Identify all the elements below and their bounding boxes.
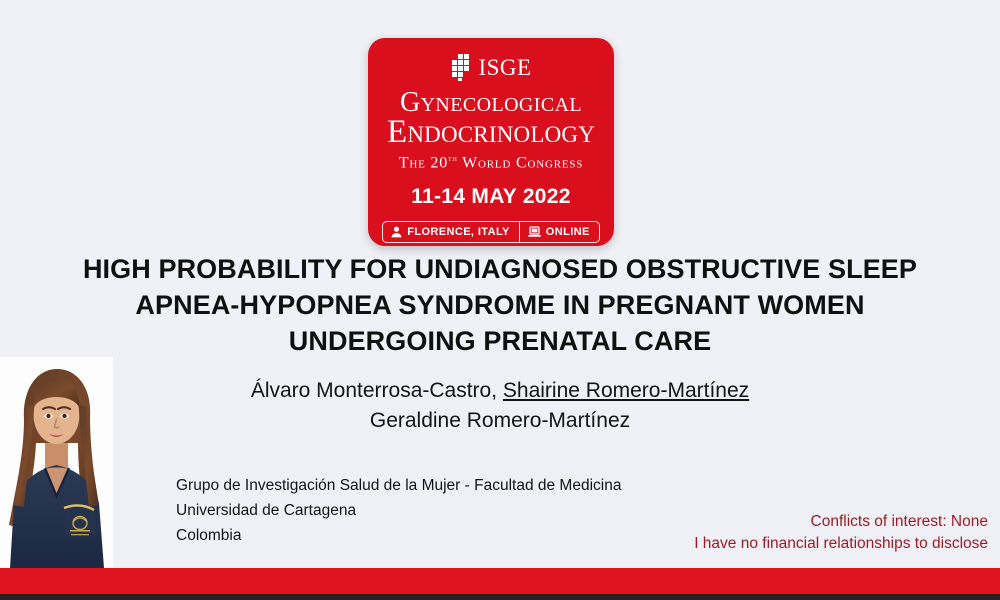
conflicts-line-1: Conflicts of interest: None <box>694 511 988 533</box>
affiliation-line-1: Grupo de Investigación Salud de la Mujer… <box>176 474 621 499</box>
congress-edition-prefix: The 20 <box>399 154 448 171</box>
isge-logo-lockup: ISGE <box>450 52 531 82</box>
badge-florence-italy: FLORENCE, ITALY <box>383 222 519 242</box>
badge-florence-italy-label: FLORENCE, ITALY <box>407 226 510 238</box>
congress-title-line-1: Gynecological <box>400 89 582 117</box>
congress-edition-ordinal: th <box>448 153 458 163</box>
footer-dark-strip <box>0 594 1000 600</box>
presentation-title-line-1: HIGH PROBABILITY FOR UNDIAGNOSED OBSTRUC… <box>0 252 1000 288</box>
affiliation-line-2: Universidad de Cartagena <box>176 499 621 524</box>
congress-edition-suffix: World Congress <box>458 154 584 171</box>
congress-logo-card: ISGE Gynecological Endocrinology The 20t… <box>368 38 614 246</box>
congress-dates: 11-14 MAY 2022 <box>411 185 571 209</box>
affiliation-block: Grupo de Investigación Salud de la Mujer… <box>176 474 621 548</box>
conflicts-of-interest-block: Conflicts of interest: None I have no fi… <box>694 511 988 556</box>
author-presenting: Shairine Romero-Martínez <box>503 379 749 402</box>
presentation-title-line-2: APNEA-HYPOPNEA SYNDROME IN PREGNANT WOME… <box>0 288 1000 324</box>
author-line-primary: Álvaro Monterrosa-Castro, Shairine Romer… <box>0 376 1000 406</box>
location-pin-icon <box>391 226 402 238</box>
congress-badges: FLORENCE, ITALY ONLINE <box>382 221 600 243</box>
isge-wordmark: ISGE <box>478 56 531 79</box>
conflicts-line-2: I have no financial relationships to dis… <box>694 533 988 555</box>
presenter-portrait-image <box>0 357 113 568</box>
presentation-title: HIGH PROBABILITY FOR UNDIAGNOSED OBSTRUC… <box>0 252 1000 360</box>
author-list: Álvaro Monterrosa-Castro, Shairine Romer… <box>0 376 1000 437</box>
presentation-title-line-3: UNDERGOING PRENATAL CARE <box>0 324 1000 360</box>
author-secondary: Geraldine Romero-Martínez <box>0 406 1000 436</box>
laptop-icon <box>528 226 541 238</box>
affiliation-line-3: Colombia <box>176 524 621 549</box>
badge-online: ONLINE <box>519 222 599 242</box>
isge-mosaic-mark-icon <box>450 54 476 81</box>
congress-title-line-2: Endocrinology <box>387 116 595 149</box>
badge-online-label: ONLINE <box>546 226 590 238</box>
author-first: Álvaro Monterrosa-Castro, <box>251 379 503 402</box>
congress-edition-line: The 20th World Congress <box>399 153 583 172</box>
presenter-photo <box>0 357 113 568</box>
footer-red-bar <box>0 568 1000 594</box>
